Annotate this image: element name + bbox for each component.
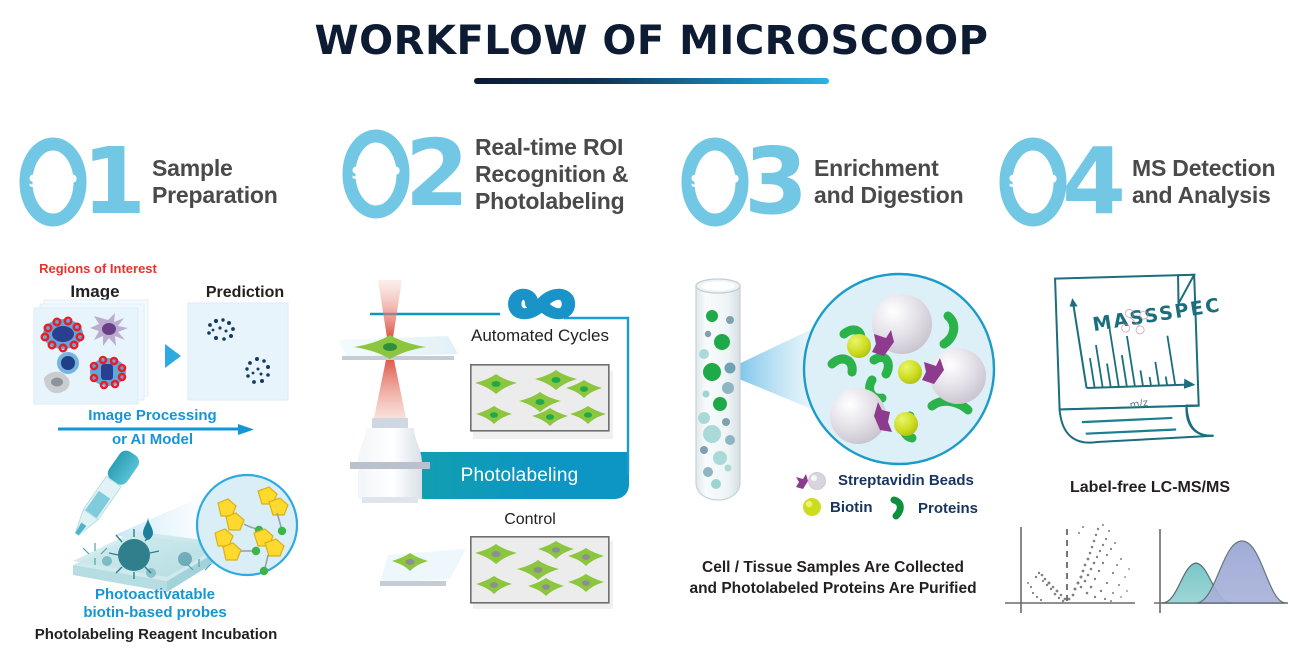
probe-label-line2: biotin-based probes [40,604,270,622]
step-word-4: STEP [1008,172,1058,192]
image-processing-label: Image Processing [45,407,260,424]
probe-incubation-illustration [55,455,305,600]
step3-caption-line1: Cell / Tissue Samples Are Collected [668,559,998,577]
step-label-2-line1: Real-time ROI [475,134,628,161]
streptavidin-bead-icon [792,469,832,491]
step-label-4-line2: and Analysis [1132,182,1275,209]
step-word-2: STEP [351,164,401,184]
volcano-plot [995,515,1145,625]
step-number-2: 2 [405,135,469,213]
step-label-2-line2: Recognition & [475,161,628,188]
step4-caption: Label-free LC-MS/MS [1000,479,1300,497]
title-block: WORKFLOW OF MICROSCOOP [0,18,1303,84]
legend-proteins: Proteins [886,496,978,520]
enrichment-zoom-circle [804,274,994,464]
legend-label-biotin: Biotin [830,499,873,516]
step-label-2-line3: Photolabeling [475,188,628,215]
legend-label-streptavidin: Streptavidin Beads [838,472,974,489]
step-zero-ring-icon: STEP [684,140,746,224]
step-header-1: STEP 1 Sample Preparation [22,140,278,224]
panel-arrow-icon [163,342,185,372]
biotin-icon [800,496,824,518]
step-badge-4: STEP 4 [1002,140,1126,224]
round-cell [57,352,79,374]
step-number-1: 1 [82,143,146,221]
step-label-1-line1: Sample [152,155,278,182]
step-header-3: STEP 3 Enrichment and Digestion [684,140,963,224]
step-label-3-line2: and Digestion [814,182,963,209]
infinity-icon [497,283,581,325]
title-underline-rule [474,78,829,84]
step-zero-ring-icon: STEP [1002,140,1064,224]
probe-label-line1: Photoactivatable [40,586,270,604]
step-number-4: 4 [1062,143,1126,221]
step-header-2: STEP 2 Real-time ROI Recognition & Photo… [345,132,628,216]
step-header-4: STEP 4 MS Detection and Analysis [1002,140,1275,224]
step-badge-1: STEP 1 [22,140,146,224]
prediction-panel [188,303,300,413]
legend-label-proteins: Proteins [918,500,978,517]
legend-biotin: Biotin [800,496,873,518]
step3-caption-line2: and Photolabeled Proteins Are Purified [668,580,998,598]
step-word-1: STEP [28,172,78,192]
image-panel-label: Image [40,282,150,302]
step-word-3: STEP [690,172,740,192]
step-label-3-line1: Enrichment [814,155,963,182]
probe-zoom-circle [197,475,297,575]
control-slide [380,545,470,595]
step-label-1-line2: Preparation [152,182,278,209]
mass-spec-paper-illustration: MASSSPEC m/z [1010,255,1260,470]
step-label-3: Enrichment and Digestion [814,155,963,209]
legend-streptavidin-beads: Streptavidin Beads [792,469,974,491]
step-zero-ring-icon: STEP [22,140,84,224]
step-label-4-line1: MS Detection [1132,155,1275,182]
labeled-cells-box [470,364,618,438]
step-label-2: Real-time ROI Recognition & Photolabelin… [475,134,628,215]
step-label-1: Sample Preparation [152,155,278,209]
page-title: WORKFLOW OF MICROSCOOP [0,18,1303,64]
image-panel [30,300,160,420]
prediction-panel-label: Prediction [185,284,305,302]
step1-caption: Photolabeling Reagent Incubation [6,626,306,643]
test-tube [696,279,740,500]
step-badge-3: STEP 3 [684,140,808,224]
control-cells-box [470,536,618,610]
ai-model-label: or AI Model [45,431,260,448]
step-label-4: MS Detection and Analysis [1132,155,1275,209]
step-badge-2: STEP 2 [345,132,469,216]
step-number-3: 3 [744,143,808,221]
protein-icon [886,496,912,520]
control-label: Control [455,511,605,529]
microscope-laser-illustration [330,278,490,503]
regions-of-interest-label: Regions of Interest [18,261,178,276]
step-zero-ring-icon: STEP [345,132,407,216]
distribution-plot [1148,515,1296,625]
